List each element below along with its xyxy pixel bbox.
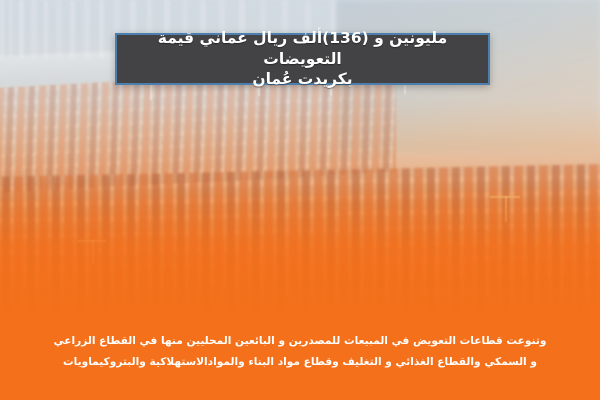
title-banner: مليونين و (136)ألف ريال عماني قيمة التعو… <box>115 33 490 85</box>
footer-line-2: و السمكي والقطاع الغذائي و التغليف وقطاع… <box>22 352 578 373</box>
page-title: مليونين و (136)ألف ريال عماني قيمة التعو… <box>117 28 488 91</box>
title-line-1: مليونين و (136)ألف ريال عماني قيمة التعو… <box>158 29 447 68</box>
title-line-2: بكريدت عُمان <box>252 70 352 88</box>
footer-line-1: وتنوعت قطاعات التعويض في المبيعات للمصدر… <box>22 331 578 352</box>
photo-to-orange-fade <box>0 180 600 330</box>
footer-summary: وتنوعت قطاعات التعويض في المبيعات للمصدر… <box>22 331 578 372</box>
infographic-poster: مليونين و (136)ألف ريال عماني قيمة التعو… <box>0 0 600 400</box>
